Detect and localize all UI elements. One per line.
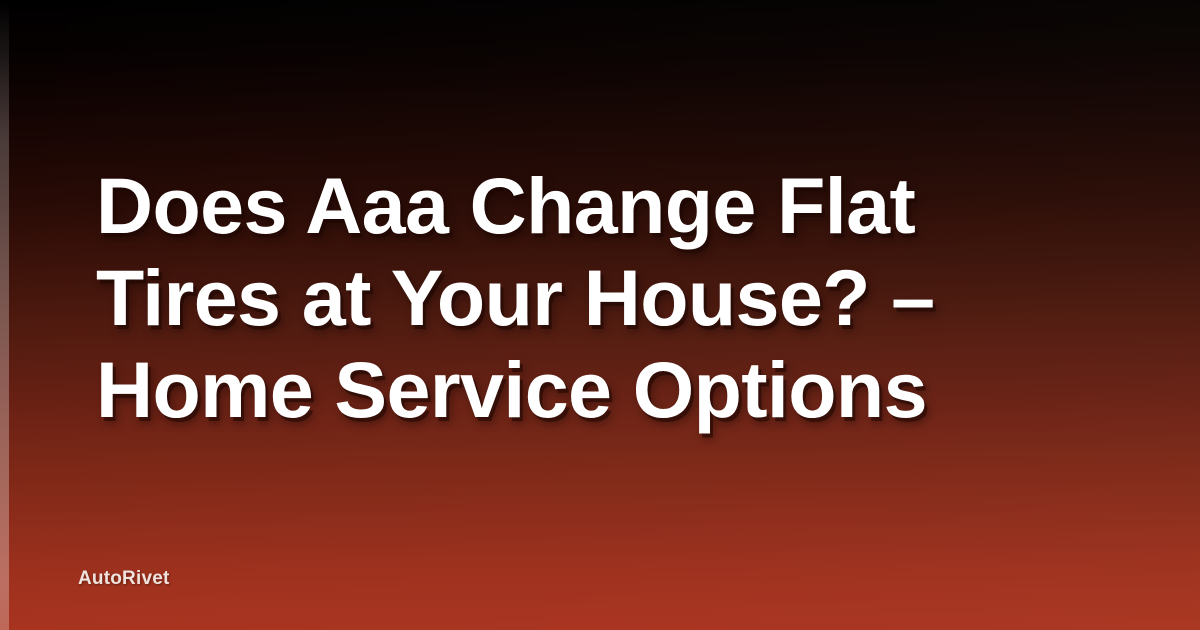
brand-wordmark: AutoRivet: [78, 568, 170, 590]
card-content: Does Aaa Change Flat Tires at Your House…: [0, 0, 1200, 630]
page-title: Does Aaa Change Flat Tires at Your House…: [96, 160, 1136, 436]
social-share-card: Does Aaa Change Flat Tires at Your House…: [0, 0, 1200, 630]
